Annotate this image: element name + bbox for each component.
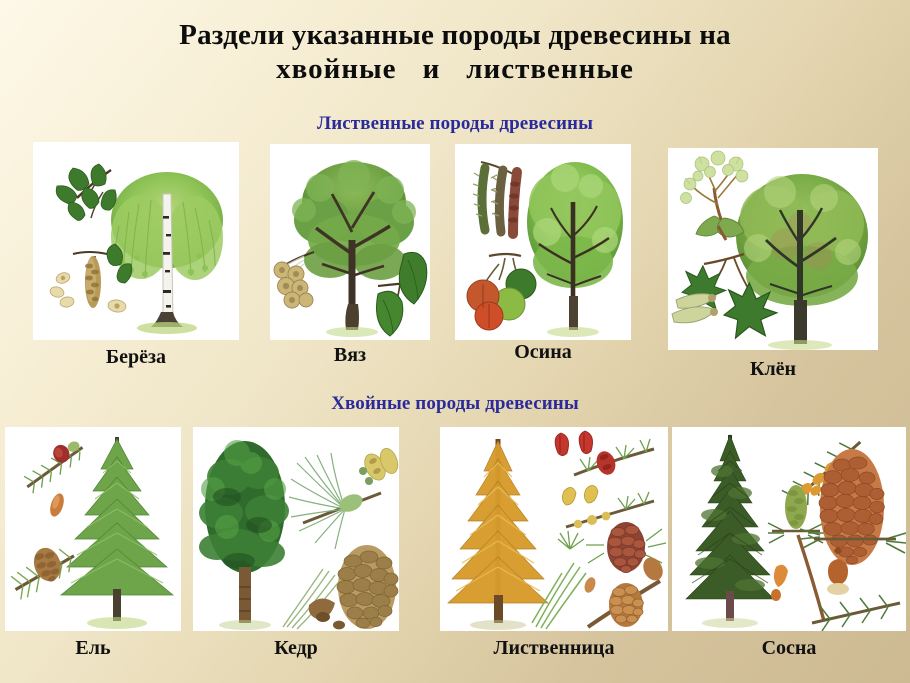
slide-canvas: Раздели указанные породы древесины на хв… [0, 0, 910, 683]
tree-card-aspen[interactable] [455, 144, 631, 340]
section-heading-deciduous: Лиственные породы древесины [0, 113, 910, 135]
tree-card-maple[interactable] [668, 148, 878, 350]
tree-label-birch: Берёза [33, 346, 239, 369]
page-title: Раздели указанные породы древесины на хв… [0, 18, 910, 86]
larch-illustration [440, 427, 668, 631]
tree-label-spruce: Ель [5, 637, 181, 660]
title-conjunction: и [423, 53, 441, 85]
tree-card-birch[interactable] [33, 142, 239, 340]
tree-label-pine: Сосна [672, 637, 906, 660]
tree-card-elm[interactable] [270, 144, 430, 340]
section-heading-coniferous: Хвойные породы древесины [0, 393, 910, 415]
tree-label-larch: Лиственница [440, 637, 668, 660]
title-word-deciduous: лиственные [466, 53, 634, 85]
tree-card-larch[interactable] [440, 427, 668, 631]
tree-label-siberian-pine: Кедр [193, 637, 399, 660]
title-word-coniferous: хвойные [276, 53, 396, 85]
maple-illustration [668, 148, 878, 350]
aspen-illustration [455, 144, 631, 340]
tree-card-pine[interactable] [672, 427, 906, 631]
spruce-illustration [5, 427, 181, 631]
siberian-pine-illustration [193, 427, 399, 631]
tree-label-aspen: Осина [455, 341, 631, 364]
tree-label-elm: Вяз [270, 344, 430, 367]
title-line-2: хвойныеилиственные [0, 52, 910, 86]
tree-card-siberian-pine[interactable] [193, 427, 399, 631]
pine-illustration [672, 427, 906, 631]
tree-card-spruce[interactable] [5, 427, 181, 631]
title-line-1: Раздели указанные породы древесины на [179, 19, 731, 51]
elm-illustration [270, 144, 430, 340]
tree-label-maple: Клён [668, 358, 878, 381]
birch-illustration [33, 142, 239, 340]
